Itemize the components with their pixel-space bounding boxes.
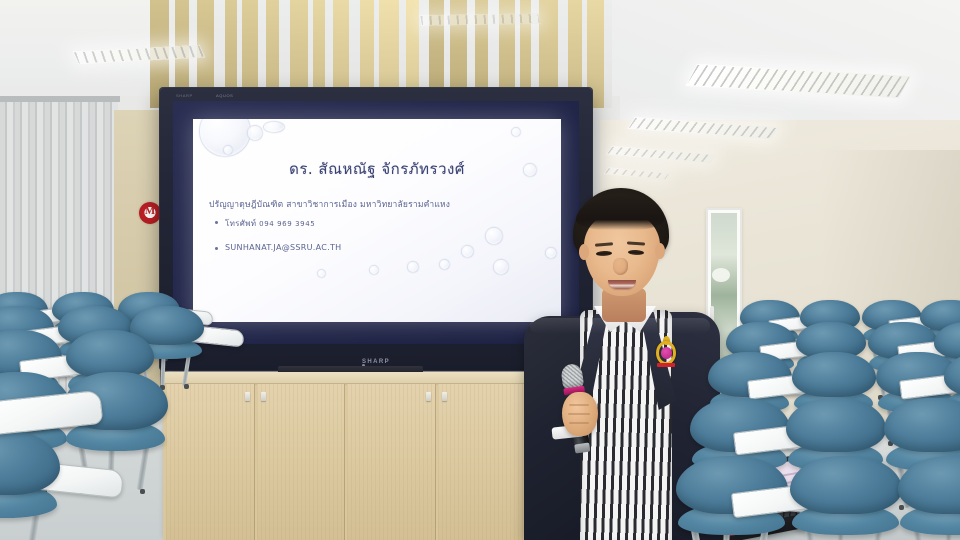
chair-backrest — [884, 398, 960, 452]
slide-bullet-phone-label: โทรศัพท์ — [225, 219, 256, 228]
presentation-slide: ดร. สัณหณัฐ จักรภัทรวงศ์ ปรัญญาดุษฎีบัณฑ… — [193, 119, 561, 322]
chair-backrest — [898, 456, 960, 514]
slide-bullet-list: โทรศัพท์ 094 969 3945 SUNHANAT.JA@SSRU.A… — [215, 217, 549, 265]
cabinet-door-handle[interactable] — [426, 392, 431, 401]
slide-bullet-phone: โทรศัพท์ 094 969 3945 — [215, 217, 549, 230]
photo-scene: M SHARP AQUOS ดร. สัณหณัฐ จักรภัทรวงศ์ ป… — [0, 0, 960, 540]
tv-brand-top-left: SHARP — [176, 93, 193, 98]
knuckle-line — [568, 413, 590, 415]
chair-backrest — [792, 352, 876, 397]
hand-holding-microphone — [562, 392, 598, 436]
tv-brand-top-right: AQUOS — [216, 93, 233, 98]
tv-brand-logo: SHARP — [362, 359, 390, 365]
chair-foot — [140, 489, 145, 494]
slide-title: ดร. สัณหณัฐ จักรภัทรวงศ์ — [193, 157, 561, 181]
classroom-chair[interactable] — [0, 430, 60, 540]
slide-bullet-phone-number: 094 969 3945 — [259, 220, 315, 228]
knuckle-line — [569, 404, 589, 406]
av-cabinet[interactable]: ตู้เก็บของ — [163, 372, 528, 540]
wall-logo-sticker: M — [139, 202, 161, 224]
ear-right — [655, 243, 665, 259]
light-louvers — [420, 14, 539, 25]
cabinet-door-handle[interactable] — [261, 392, 266, 401]
university-crest-emblem — [653, 336, 679, 370]
curtain-rail — [0, 96, 120, 102]
slide-bubble — [263, 121, 285, 133]
ceiling-light-fixture — [419, 13, 541, 26]
slide-bullet-email-address: SUNHANAT.JA@SSRU.AC.TH — [225, 243, 342, 252]
slide-bubble — [223, 145, 233, 155]
chair-backrest — [790, 456, 902, 514]
slide-bubble — [511, 127, 521, 137]
classroom-chair[interactable] — [790, 456, 902, 540]
chair-foot — [184, 384, 189, 389]
slide-bubble — [247, 125, 263, 141]
cabinet-doors — [166, 384, 525, 540]
knuckle-line — [569, 422, 589, 424]
ear-left — [579, 244, 589, 260]
cabinet-door-handle[interactable] — [245, 392, 250, 401]
cabinet-door[interactable] — [166, 384, 255, 540]
nose — [613, 258, 628, 275]
cabinet-door[interactable] — [347, 384, 436, 540]
slide-bubble — [369, 265, 379, 275]
classroom-chair[interactable] — [898, 456, 960, 540]
cabinet-top-surface — [161, 372, 530, 383]
cabinet-door[interactable] — [257, 384, 346, 540]
chair-backrest — [786, 398, 886, 452]
crest-base — [657, 363, 675, 367]
crest-gem — [661, 347, 672, 359]
wall-logo-letter: M — [139, 205, 161, 217]
slide-bubble — [317, 269, 326, 278]
cabinet-door-handle[interactable] — [442, 392, 447, 401]
slide-bullet-email: SUNHANAT.JA@SSRU.AC.TH — [215, 243, 549, 252]
chair-backrest — [66, 330, 154, 378]
slide-subtitle: ปรัญญาดุษฎีบัณฑิต สาขาวิชาการเมือง มหาวิ… — [209, 197, 549, 211]
wall-slat-gap — [604, 0, 612, 108]
